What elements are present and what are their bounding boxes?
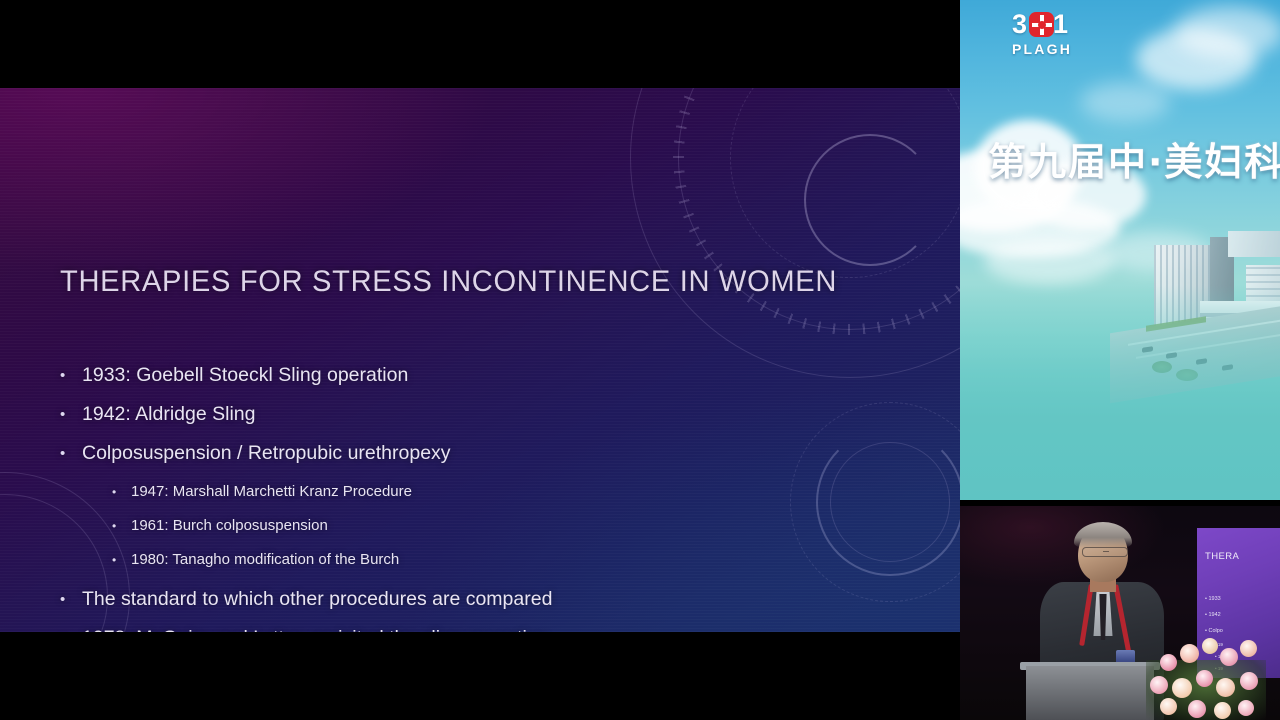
slide-video-pane[interactable]: THERAPIES FOR STRESS INCONTINENCE IN WOM… xyxy=(0,0,960,720)
logo-wordmark: PLAGH xyxy=(1012,41,1068,57)
sub-bullet-item: • 1947: Marshall Marchetti Kranz Procedu… xyxy=(60,475,920,509)
bullet-text: 1978: McGuire and Lytton revisited the s… xyxy=(82,619,548,632)
projected-slide-title: THERA xyxy=(1205,551,1239,562)
projected-bullet: 1933 xyxy=(1205,596,1221,602)
bullet-item: • 1942: Aldridge Sling xyxy=(60,395,920,434)
sub-bullet-item: • 1980: Tanagho modification of the Burc… xyxy=(60,543,920,577)
logo-digit-3: 3 xyxy=(1012,10,1027,38)
bullet-item: • 1978: McGuire and Lytton revisited the… xyxy=(60,619,920,632)
slide-title: THERAPIES FOR STRESS INCONTINENCE IN WOM… xyxy=(60,265,837,299)
slide-content: THERAPIES FOR STRESS INCONTINENCE IN WOM… xyxy=(0,88,960,632)
bullet-dot-icon: • xyxy=(60,356,82,395)
bullet-dot-icon: • xyxy=(60,580,82,619)
plagh-301-logo: 3 1 PLAGH xyxy=(1012,10,1068,60)
bullet-dot-icon: • xyxy=(60,395,82,434)
bullet-dot-icon: • xyxy=(112,543,131,577)
sub-bullet-text: 1961: Burch colposuspension xyxy=(131,509,328,543)
medical-cross-emblem-icon xyxy=(1029,12,1054,37)
conference-banner: 3 1 PLAGH 第九届中·美妇科 xyxy=(960,0,1280,500)
right-sidebar: 3 1 PLAGH 第九届中·美妇科 THERA 1933 1942 Colpo… xyxy=(960,0,1280,720)
bullet-sublist: • 1947: Marshall Marchetti Kranz Procedu… xyxy=(60,475,920,577)
speaker-camera-feed[interactable]: THERA 1933 1942 Colpo 19 19 19 xyxy=(960,506,1280,720)
glasses-icon xyxy=(1082,547,1128,557)
sub-bullet-item: • 1961: Burch colposuspension xyxy=(60,509,920,543)
bullet-item: • Colposuspension / Retropubic urethrope… xyxy=(60,434,920,473)
sub-bullet-text: 1980: Tanagho modification of the Burch xyxy=(131,543,399,577)
emblem-center-dot-icon xyxy=(1038,21,1046,29)
bullet-item: • The standard to which other procedures… xyxy=(60,580,920,619)
bullet-dot-icon: • xyxy=(60,434,82,473)
logo-301-mark: 3 1 xyxy=(1012,10,1068,40)
projected-bullet: 1942 xyxy=(1205,612,1221,618)
speaker-hair xyxy=(1074,522,1132,548)
bullet-item: • 1933: Goebell Stoeckl Sling operation xyxy=(60,356,920,395)
presentation-slide: THERAPIES FOR STRESS INCONTINENCE IN WOM… xyxy=(0,88,960,632)
conference-headline: 第九届中·美妇科 xyxy=(988,131,1280,186)
bullet-dot-icon: • xyxy=(112,475,131,509)
flower-arrangement xyxy=(1146,634,1266,720)
logo-digit-1: 1 xyxy=(1053,10,1068,38)
bullet-dot-icon: • xyxy=(60,619,82,632)
bullet-text: The standard to which other procedures a… xyxy=(82,580,552,619)
bullet-text: 1942: Aldridge Sling xyxy=(82,395,255,434)
slide-bullet-list: • 1933: Goebell Stoeckl Sling operation … xyxy=(60,356,920,632)
podium xyxy=(1026,666,1154,720)
bullet-dot-icon: • xyxy=(112,509,131,543)
sub-bullet-text: 1947: Marshall Marchetti Kranz Procedure xyxy=(131,475,412,509)
teal-gradient-overlay xyxy=(960,285,1280,500)
bullet-text: Colposuspension / Retropubic urethropexy xyxy=(82,434,451,473)
bullet-text: 1933: Goebell Stoeckl Sling operation xyxy=(82,356,408,395)
stream-viewport: THERAPIES FOR STRESS INCONTINENCE IN WOM… xyxy=(0,0,1280,720)
